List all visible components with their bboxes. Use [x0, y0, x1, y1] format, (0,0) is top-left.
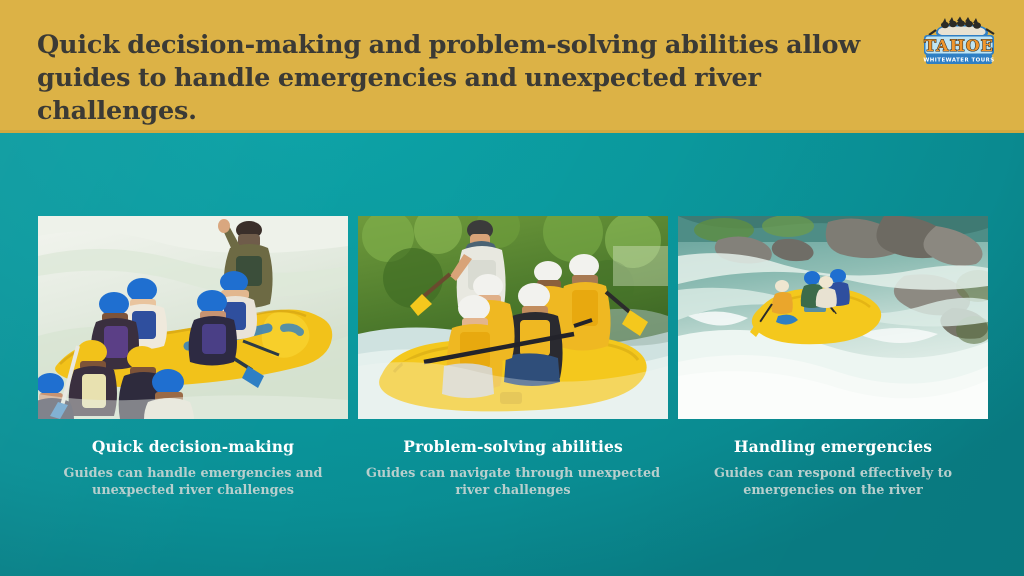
page-title: Quick decision-making and problem-solvin…: [37, 29, 927, 128]
header-band: Quick decision-making and problem-solvin…: [0, 0, 1024, 133]
slide: Quick decision-making and problem-solvin…: [0, 0, 1024, 576]
photo-rafting-group-blue-helmets: [38, 216, 348, 419]
card-row: Quick decision-making Guides can handle …: [0, 216, 1024, 516]
logo-tagline-block: WHITEWATER TOURS: [923, 54, 994, 64]
card-body: Guides can respond effectively to emerge…: [678, 465, 988, 499]
card-problem-solving-abilities: Problem-solving abilities Guides can nav…: [358, 216, 668, 499]
card-title: Problem-solving abilities: [358, 437, 668, 456]
photo-3-graphic: [678, 216, 988, 419]
card-body: Guides can navigate through unexpected r…: [358, 465, 668, 499]
card-title: Handling emergencies: [678, 437, 988, 456]
svg-text:WHITEWATER TOURS: WHITEWATER TOURS: [923, 58, 994, 64]
logo-brand-block: TAHOE: [924, 35, 994, 55]
svg-text:TAHOE: TAHOE: [924, 36, 994, 55]
photo-rafting-group-white-helmets: [358, 216, 668, 419]
logo-graphic: TAHOE WHITEWATER TOURS: [916, 16, 1002, 70]
card-handling-emergencies: Handling emergencies Guides can respond …: [678, 216, 988, 499]
photo-raft-in-rapids: [678, 216, 988, 419]
tahoe-whitewater-tours-logo: TAHOE WHITEWATER TOURS: [916, 16, 1002, 70]
card-quick-decision-making: Quick decision-making Guides can handle …: [38, 216, 348, 499]
photo-1-graphic: [38, 216, 348, 419]
photo-2-graphic: [358, 216, 668, 419]
card-body: Guides can handle emergencies and unexpe…: [38, 465, 348, 499]
card-title: Quick decision-making: [38, 437, 348, 456]
